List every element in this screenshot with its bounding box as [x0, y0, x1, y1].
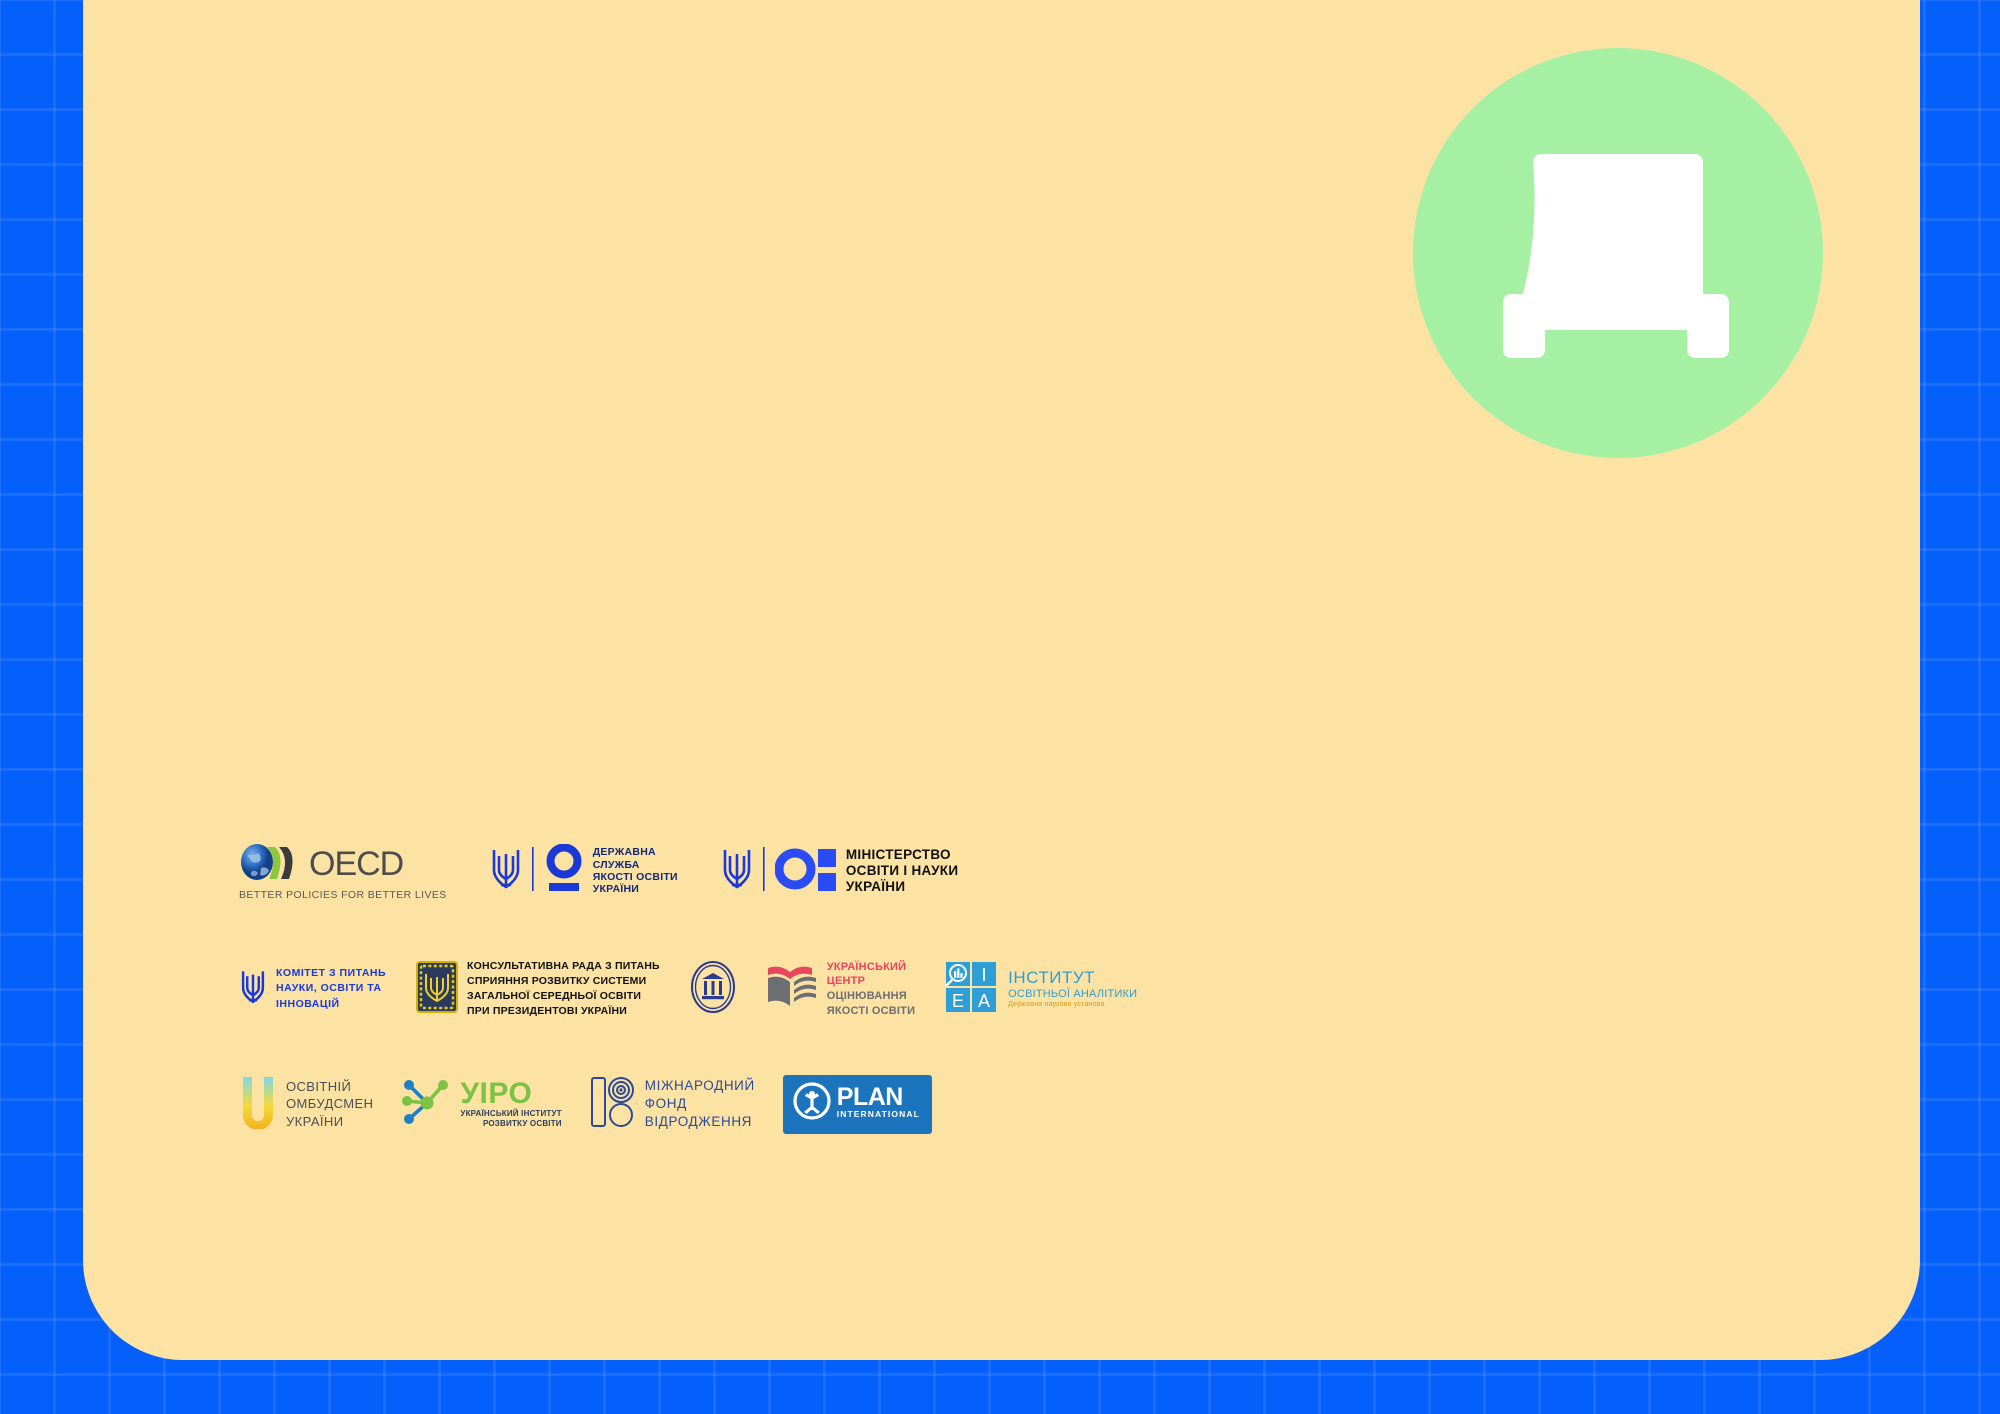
mon-wordmark: МІНІСТЕРСТВО ОСВІТИ І НАУКИ УКРАЇНИ [846, 847, 958, 895]
oecd-tagline: BETTER POLICIES FOR BETTER LIVES [239, 889, 447, 901]
logo-plan-international[interactable]: PLAN INTERNATIONAL [783, 1075, 932, 1134]
partner-logo-row-3: ОСВІТНІЙ ОМБУДСМЕН УКРАЇНИ [239, 1074, 1239, 1134]
page-panel: OECD BETTER POLICIES FOR BETTER LIVES [83, 0, 1920, 1360]
ombudsman-glyph-icon [239, 1075, 277, 1134]
open-book-icon [766, 962, 818, 1017]
irf-wordmark: МІЖНАРОДНИЙ ФОНД ВІДРОДЖЕННЯ [645, 1077, 755, 1132]
logo-uiro[interactable]: УІРО УКРАЇНСЬКИЙ ІНСТИТУТ РОЗВИТКУ ОСВІТ… [401, 1077, 561, 1132]
academy-emblem-icon [690, 960, 736, 1019]
plan-child-icon [793, 1082, 831, 1125]
ukraine-trident-icon [720, 845, 754, 898]
ukraine-trident-icon [489, 845, 523, 898]
partner-logo-row-2: КОМІТЕТ З ПИТАНЬ НАУКИ, ОСВІТИ ТА ІННОВА… [239, 956, 1239, 1022]
partner-logo-row-1: OECD BETTER POLICIES FOR BETTER LIVES [239, 838, 1239, 904]
letter-d-badge-icon [1413, 48, 1823, 458]
divider-line [532, 847, 535, 896]
presidential-seal-icon [416, 961, 458, 1018]
logo-parliament-committee[interactable]: КОМІТЕТ З ПИТАНЬ НАУКИ, ОСВІТИ ТА ІННОВА… [239, 966, 386, 1012]
plan-subtitle: INTERNATIONAL [837, 1109, 920, 1119]
iea-wordmark: ІНСТИТУТ ОСВІТНЬОЇ АНАЛІТИКИ Державна на… [1008, 968, 1137, 1009]
globe-chevrons-icon [239, 842, 305, 887]
logo-institute-educational-analytics[interactable]: I E A ІНСТИТУТ ОСВІТНЬОЇ АНАЛІТИКИ Держа… [945, 961, 1137, 1018]
logo-state-education-quality-service[interactable]: ДЕРЖАВНА СЛУЖБА ЯКОСТІ ОСВІТИ УКРАЇНИ [489, 844, 678, 899]
logo-academy[interactable] [690, 960, 736, 1019]
sqo-circle-bar-icon [544, 844, 584, 899]
svg-text:E: E [952, 991, 964, 1011]
council-wordmark: КОНСУЛЬТАТИВНА РАДА З ПИТАНЬ СПРИЯННЯ РО… [467, 959, 660, 1020]
network-nodes-icon [401, 1077, 451, 1132]
oecd-wordmark: OECD [309, 847, 403, 881]
iea-tiles-icon: I E A [945, 961, 999, 1018]
committee-wordmark: КОМІТЕТ З ПИТАНЬ НАУКИ, ОСВІТИ ТА ІННОВА… [276, 966, 386, 1012]
plan-badge: PLAN INTERNATIONAL [783, 1075, 932, 1134]
logo-presidential-consultative-council[interactable]: КОНСУЛЬТАТИВНА РАДА З ПИТАНЬ СПРИЯННЯ РО… [416, 959, 660, 1020]
logo-education-ombudsman[interactable]: ОСВІТНІЙ ОМБУДСМЕН УКРАЇНИ [239, 1075, 373, 1134]
sqo-wordmark: ДЕРЖАВНА СЛУЖБА ЯКОСТІ ОСВІТИ УКРАЇНИ [593, 846, 678, 896]
plan-wordmark: PLAN [837, 1086, 920, 1109]
svg-text:A: A [978, 991, 990, 1011]
logo-international-renaissance-foundation[interactable]: МІЖНАРОДНИЙ ФОНД ВІДРОДЖЕННЯ [590, 1076, 755, 1133]
uiro-wordmark: УІРО УКРАЇНСЬКИЙ ІНСТИТУТ РОЗВИТКУ ОСВІТ… [460, 1079, 561, 1130]
assessment-center-wordmark: УКРАЇНСЬКИЙ ЦЕНТР ОЦІНЮВАННЯ ЯКОСТІ ОСВІ… [827, 960, 915, 1018]
mon-ring-squares-icon [775, 844, 837, 899]
renaissance-rings-icon [590, 1076, 636, 1133]
logo-ministry-of-education-science[interactable]: МІНІСТЕРСТВО ОСВІТИ І НАУКИ УКРАЇНИ [720, 844, 958, 899]
uiro-subtitle: УКРАЇНСЬКИЙ ІНСТИТУТ РОЗВИТКУ ОСВІТИ [460, 1109, 561, 1130]
logo-ukrainian-assessment-center[interactable]: УКРАЇНСЬКИЙ ЦЕНТР ОЦІНЮВАННЯ ЯКОСТІ ОСВІ… [766, 960, 915, 1018]
svg-text:I: I [982, 965, 987, 985]
partner-logos: OECD BETTER POLICIES FOR BETTER LIVES [239, 838, 1239, 1134]
brand-badge [1413, 48, 1823, 458]
ukraine-trident-icon [239, 967, 267, 1012]
ombudsman-wordmark: ОСВІТНІЙ ОМБУДСМЕН УКРАЇНИ [286, 1078, 373, 1129]
divider-line [763, 847, 766, 896]
logo-oecd[interactable]: OECD BETTER POLICIES FOR BETTER LIVES [239, 842, 447, 901]
